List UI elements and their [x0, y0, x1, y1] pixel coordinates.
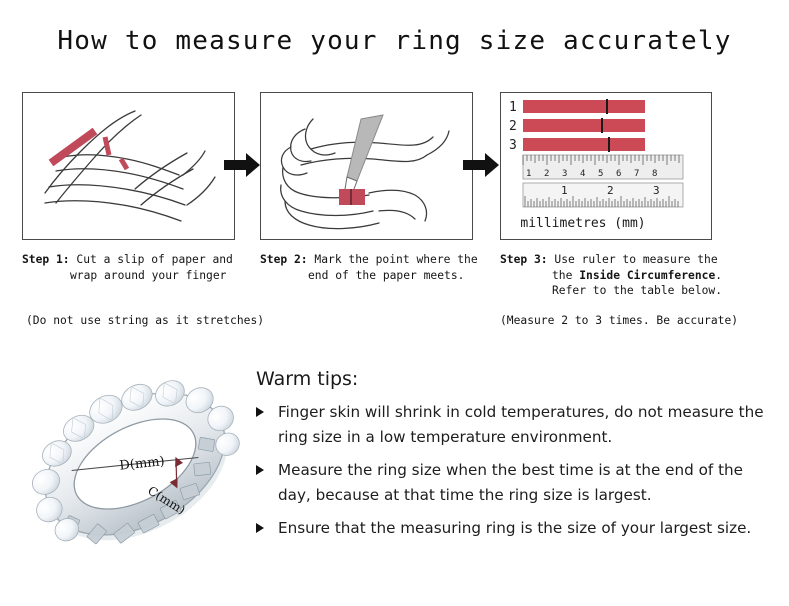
step-3-line3: Refer to the table below. — [500, 283, 762, 299]
step-1-line1: Cut a slip of paper and — [76, 253, 232, 266]
warm-tip-item: Measure the ring size when the best time… — [256, 458, 768, 508]
ring-diagram: D(mm) C(mm) — [24, 352, 246, 577]
inch-tick-1: 1 — [561, 184, 568, 197]
cm-tick-3: 3 — [562, 169, 567, 179]
ring-size-guide-page: How to measure your ring size accurately — [0, 0, 789, 606]
step-3-line2: the Inside Circumference. — [500, 268, 762, 284]
step-2-line2: end of the paper meets. — [260, 268, 492, 284]
triangle-bullet-icon — [256, 465, 264, 475]
cm-tick-6: 6 — [616, 169, 621, 179]
cm-tick-7: 7 — [634, 169, 639, 179]
cm-tick-5: 5 — [598, 169, 603, 179]
step-2-caption: Step 2: Mark the point where the end of … — [260, 252, 492, 283]
step-1-illustration-panel — [22, 92, 235, 240]
warm-tip-text: Ensure that the measuring ring is the si… — [278, 519, 751, 537]
strip-number-3: 3 — [509, 138, 517, 153]
cm-tick-4: 4 — [580, 169, 585, 179]
inch-tick-2: 2 — [607, 184, 614, 197]
triangle-bullet-icon — [256, 523, 264, 533]
ruler-with-paper-strips: 1 2 3 — [501, 93, 711, 239]
step-3-line2-pre: the — [552, 269, 579, 282]
strip-number-2: 2 — [509, 119, 517, 134]
cm-tick-2: 2 — [544, 169, 549, 179]
inch-tick-3: 3 — [653, 184, 660, 197]
step-1-line2: wrap around your finger — [22, 268, 254, 284]
step-2-label: Step 2: — [260, 253, 308, 266]
step-3-note: (Measure 2 to 3 times. Be accurate) — [500, 314, 738, 327]
hand-with-paper-strip-drawing — [23, 93, 234, 239]
step-3-illustration-panel: 1 2 3 — [500, 92, 712, 240]
ruler-unit-caption: millimetres (mm) — [520, 216, 645, 231]
cm-tick-8: 8 — [652, 169, 657, 179]
warm-tips-heading: Warm tips: — [256, 368, 358, 390]
warm-tips-list: Finger skin will shrink in cold temperat… — [256, 400, 768, 549]
step-2-illustration-panel — [260, 92, 473, 240]
warm-tip-item: Finger skin will shrink in cold temperat… — [256, 400, 768, 450]
step-2-line1: Mark the point where the — [314, 253, 477, 266]
step-1-caption: Step 1: Cut a slip of paper and wrap aro… — [22, 252, 254, 283]
hand-marking-with-pen-drawing — [261, 93, 472, 239]
arrow-step1-to-step2 — [222, 150, 262, 180]
step-3-line2-post: . — [715, 269, 722, 282]
step-1-note: (Do not use string as it stretches) — [26, 314, 264, 327]
warm-tip-text: Finger skin will shrink in cold temperat… — [278, 403, 764, 446]
step-3-caption: Step 3: Use ruler to measure the the Ins… — [500, 252, 762, 299]
page-title: How to measure your ring size accurately — [0, 26, 789, 56]
cm-tick-1: 1 — [526, 169, 531, 179]
warm-tip-item: Ensure that the measuring ring is the si… — [256, 516, 768, 541]
warm-tip-text: Measure the ring size when the best time… — [278, 461, 743, 504]
step-3-line1: Use ruler to measure the — [554, 253, 717, 266]
triangle-bullet-icon — [256, 407, 264, 417]
strip-number-1: 1 — [509, 100, 517, 115]
step-3-label: Step 3: — [500, 253, 548, 266]
arrow-step2-to-step3 — [461, 150, 501, 180]
step-3-line2-bold: Inside Circumference — [579, 269, 715, 282]
eternity-ring-photo: D(mm) C(mm) — [24, 352, 246, 577]
step-1-label: Step 1: — [22, 253, 70, 266]
